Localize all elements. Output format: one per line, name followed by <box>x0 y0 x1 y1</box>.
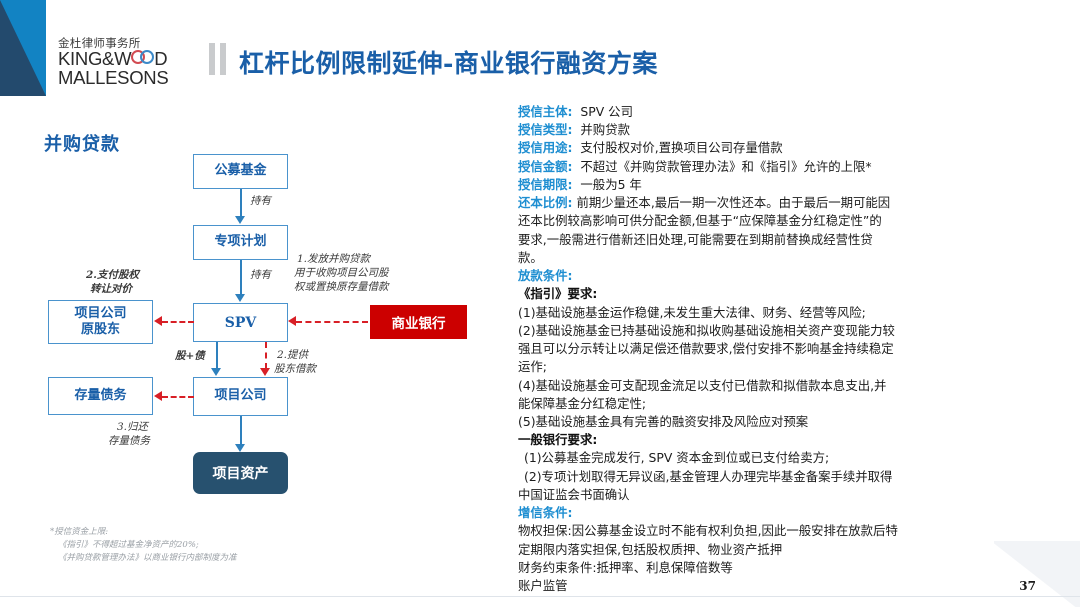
edge-spv-to-project-arrow <box>211 368 221 376</box>
disbursement-item-5: (4)基础设施基金可支配现金流足以支付已借款和拟借款本息支出,并 <box>518 377 1070 395</box>
edge-label-repay-line1: 3.归还 <box>117 420 148 434</box>
diagram-node-public-fund: 公募基金 <box>193 154 288 189</box>
disbursement-item-4: 运作; <box>518 358 1070 376</box>
detail-label-disbursement: 放款条件: <box>518 268 573 283</box>
diagram-node-project-asset: 项目资产 <box>193 452 288 494</box>
disbursement-item-1: (1)基础设施基金运作稳健,未发生重大法律、财务、经营等风险; <box>518 304 1070 322</box>
edge-fund-to-plan <box>240 189 242 217</box>
original-shareholder-line2: 原股东 <box>74 322 126 338</box>
diagram-node-existing-debt: 存量债务 <box>48 377 153 415</box>
financing-structure-diagram: 并购贷款 公募基金 专项计划 SPV 项目公司 项目资产 项目公司 原股东 存量… <box>0 0 510 607</box>
detail-row-credit-enhancement: 增信条件: <box>518 504 1070 522</box>
repayment-line-2-row: 还本比例较高影响可供分配金额,但基于“应保障基金分红稳定性”的 <box>518 212 1070 230</box>
edge-project-to-debt-arrow <box>154 391 162 401</box>
detail-label-credit-purpose: 授信用途: <box>518 140 573 155</box>
disbursement-item-6: 能保障基金分红稳定性; <box>518 395 1070 413</box>
detail-label-credit-enhancement: 增信条件: <box>518 505 573 520</box>
credit-enhancement-line-2: 定期限内落实担保,包括股权质押、物业资产抵押 <box>518 541 1070 559</box>
edge-label-loan-line3: 权或置换原存量借款 <box>294 280 389 294</box>
diagram-heading: 并购贷款 <box>44 130 120 156</box>
detail-row-credit-subject: 授信主体: SPV 公司 <box>518 103 1070 121</box>
edge-fund-to-plan-arrow <box>235 216 245 224</box>
credit-enhancement-line-4: 账户监管 <box>518 577 1070 595</box>
detail-label-credit-subject: 授信主体: <box>518 104 573 119</box>
original-shareholder-line1: 项目公司 <box>74 306 126 322</box>
diagram-node-project-company: 项目公司 <box>193 377 288 416</box>
repayment-line-1: 前期少量还本,最后一期一次性还本。由于最后一期可能因 <box>576 195 890 210</box>
edge-bank-to-spv <box>296 321 368 323</box>
repayment-line-4-row: 款。 <box>518 249 1070 267</box>
edge-spv-to-shareholder <box>162 321 194 323</box>
edge-shareholder-loan-arrow <box>260 368 270 376</box>
footnote-line-1: *授信资金上限: <box>50 526 237 539</box>
detail-row-credit-term: 授信期限: 一般为5 年 <box>518 176 1070 194</box>
edge-project-to-asset <box>240 416 242 445</box>
disbursement-bank-item-2: (2)专项计划取得无异议函,基金管理人办理完毕基金备案手续并取得 <box>518 468 1070 486</box>
diagram-node-special-plan: 专项计划 <box>193 225 288 260</box>
edge-bank-to-spv-arrow <box>288 316 296 326</box>
repayment-line-3-row: 要求,一般需进行借新还旧处理,可能需要在到期前替换成经营性贷 <box>518 231 1070 249</box>
edge-label-shareholder-loan-line1: 2.提供 <box>277 348 308 362</box>
detail-label-credit-amount: 授信金额: <box>518 159 573 174</box>
edge-label-shareholder-loan-line2: 股东借款 <box>274 362 316 376</box>
edge-label-loan-line2: 用于收购项目公司股 <box>294 266 389 280</box>
diagram-node-commercial-bank: 商业银行 <box>370 305 467 339</box>
detail-row-credit-amount: 授信金额: 不超过《并购贷款管理办法》和《指引》允许的上限* <box>518 158 1070 176</box>
disbursement-guide-title: 《指引》要求: <box>518 285 1070 303</box>
disbursement-item-3: 强且可以分示转让以满足偿还借款要求,偿付安排不影响基金持续稳定 <box>518 340 1070 358</box>
corner-decoration <box>994 541 1080 607</box>
edge-label-hold-2: 持有 <box>250 268 271 282</box>
edge-project-to-asset-arrow <box>235 444 245 452</box>
detail-value-credit-subject: SPV 公司 <box>580 104 633 119</box>
disbursement-bank-item-3: 中国证监会书面确认 <box>518 486 1070 504</box>
edge-plan-to-spv <box>240 260 242 295</box>
diagram-footnote: *授信资金上限: 《指引》不得超过基金净资产的20%; 《并购贷款管理办法》以商… <box>58 526 237 566</box>
detail-row-credit-purpose: 授信用途: 支付股权对价,置换项目公司存量借款 <box>518 139 1070 157</box>
detail-value-credit-amount: 不超过《并购贷款管理办法》和《指引》允许的上限* <box>580 159 871 174</box>
detail-label-credit-type: 授信类型: <box>518 122 573 137</box>
detail-label-repayment: 还本比例: <box>518 195 573 210</box>
edge-label-equity-debt: 股+债 <box>175 349 205 363</box>
edge-label-hold-1: 持有 <box>250 194 271 208</box>
edge-label-pay-equity-line1: 2.支付股权 <box>86 268 139 282</box>
credit-details-panel: 授信主体: SPV 公司 授信类型: 并购贷款 授信用途: 支付股权对价,置换项… <box>518 103 1070 595</box>
edge-label-loan-line1: 1.发放并购贷款 <box>297 252 370 266</box>
page-number: 37 <box>1019 579 1036 593</box>
disbursement-item-2: (2)基础设施基金已持基础设施和拟收购基础设施相关资产变现能力较 <box>518 322 1070 340</box>
edge-spv-to-shareholder-arrow <box>154 316 162 326</box>
detail-value-credit-purpose: 支付股权对价,置换项目公司存量借款 <box>580 140 782 155</box>
edge-label-pay-equity-line2: 转让对价 <box>90 282 132 296</box>
diagram-node-original-shareholder: 项目公司 原股东 <box>48 300 153 344</box>
detail-label-credit-term: 授信期限: <box>518 177 573 192</box>
detail-row-repayment: 还本比例: 前期少量还本,最后一期一次性还本。由于最后一期可能因 <box>518 194 1070 212</box>
footer-divider <box>0 596 1080 597</box>
disbursement-item-7: (5)基础设施基金具有完善的融资安排及风险应对预案 <box>518 413 1070 431</box>
diagram-node-spv: SPV <box>193 303 288 342</box>
disbursement-bank-item-1: (1)公募基金完成发行, SPV 资本金到位或已支付给卖方; <box>518 449 1070 467</box>
edge-label-repay-line2: 存量债务 <box>108 434 150 448</box>
credit-enhancement-line-3: 财务约束条件:抵押率、利息保障倍数等 <box>518 559 1070 577</box>
detail-value-credit-term: 一般为5 年 <box>580 177 641 192</box>
footnote-line-2: 《指引》不得超过基金净资产的20%; <box>58 539 237 552</box>
detail-row-disbursement: 放款条件: <box>518 267 1070 285</box>
credit-enhancement-line-1: 物权担保:因公募基金设立时不能有权利负担,因此一般安排在放款后特 <box>518 522 1070 540</box>
disbursement-bank-title: 一般银行要求: <box>518 431 1070 449</box>
detail-row-credit-type: 授信类型: 并购贷款 <box>518 121 1070 139</box>
edge-project-to-debt <box>162 396 194 398</box>
detail-value-credit-type: 并购贷款 <box>580 122 630 137</box>
edge-spv-to-project <box>216 342 218 369</box>
edge-plan-to-spv-arrow <box>235 294 245 302</box>
edge-shareholder-loan <box>265 342 267 369</box>
footnote-line-3: 《并购贷款管理办法》以商业银行内部制度为准 <box>58 552 237 565</box>
